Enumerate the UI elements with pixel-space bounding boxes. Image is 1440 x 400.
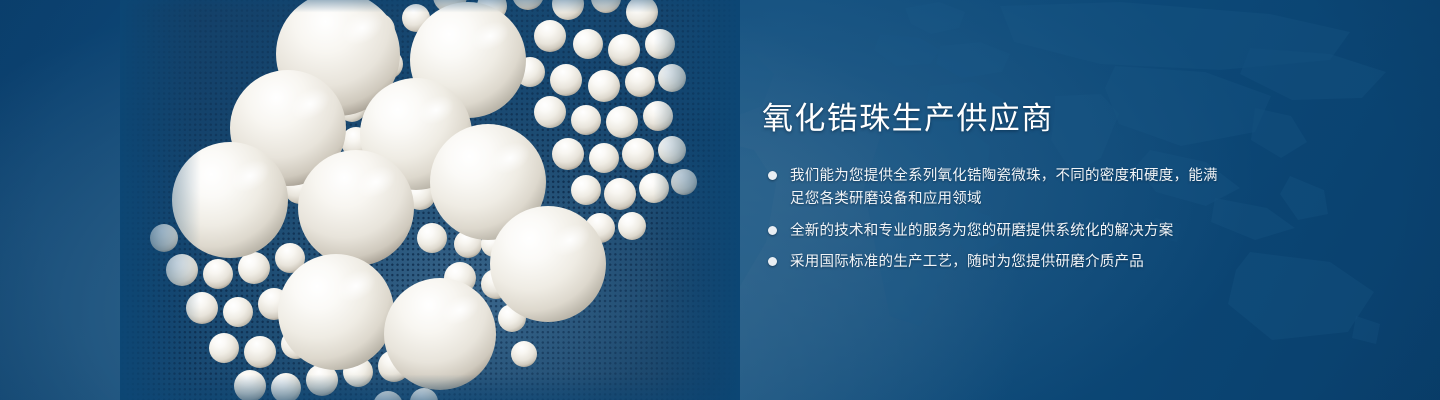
bullet-text: 全新的技术和专业的服务为您的研磨提供系统化的解决方案: [790, 223, 1174, 239]
banner-bullet-list: 我们能为您提供全系列氧化锆陶瓷微珠，不同的密度和硬度，能满足您各类研磨设备和应用…: [762, 165, 1232, 275]
bullet-dot-icon: [768, 171, 777, 180]
bullet-text: 采用国际标准的生产工艺，随时为您提供研磨介质产品: [790, 254, 1144, 270]
banner-copy: 氧化锆珠生产供应商 我们能为您提供全系列氧化锆陶瓷微珠，不同的密度和硬度，能满足…: [762, 100, 1232, 274]
bullet-dot-icon: [768, 226, 777, 235]
bullet-text: 我们能为您提供全系列氧化锆陶瓷微珠，不同的密度和硬度，能满足您各类研磨设备和应用…: [790, 168, 1218, 207]
banner-headline: 氧化锆珠生产供应商: [762, 100, 1232, 139]
bullet-dot-icon: [768, 257, 777, 266]
list-item: 采用国际标准的生产工艺，随时为您提供研磨介质产品: [762, 251, 1232, 274]
list-item: 全新的技术和专业的服务为您的研磨提供系统化的解决方案: [762, 220, 1232, 243]
list-item: 我们能为您提供全系列氧化锆陶瓷微珠，不同的密度和硬度，能满足您各类研磨设备和应用…: [762, 165, 1232, 211]
hero-banner: 氧化锆珠生产供应商 我们能为您提供全系列氧化锆陶瓷微珠，不同的密度和硬度，能满足…: [0, 0, 1440, 400]
